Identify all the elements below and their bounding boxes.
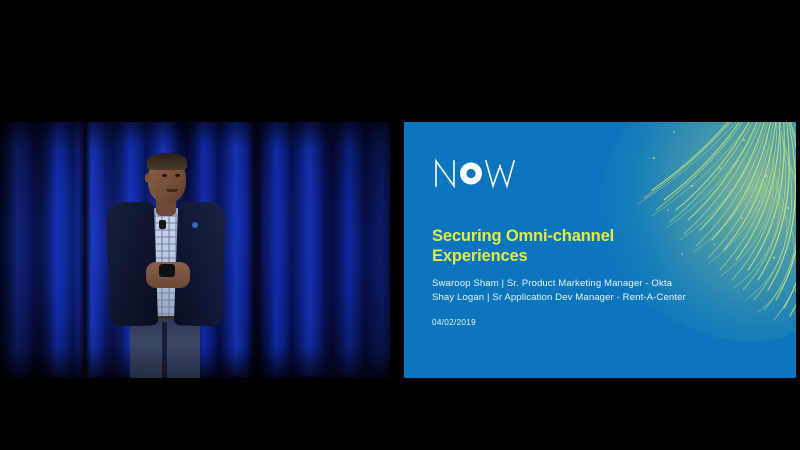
presentation-slide-panel[interactable]: Securing Omni-channel Experiences Swaroo… <box>404 122 796 378</box>
now-logo <box>432 155 516 191</box>
speaker-figure <box>96 152 246 378</box>
curtain-fold-shadow <box>78 122 92 378</box>
presenter-list: Swaroop Sham | Sr. Product Marketing Man… <box>432 277 732 304</box>
curtain-fold-shadow-secondary <box>248 122 264 378</box>
presenter-line-2: Shay Logan | Sr Application Dev Manager … <box>432 291 732 305</box>
speaker-eye-left <box>162 174 167 177</box>
speaker-mouth <box>166 189 178 192</box>
slide-title: Securing Omni-channel Experiences <box>432 226 732 266</box>
speaker-hair <box>147 153 187 170</box>
video-player-stage: Securing Omni-channel Experiences Swaroo… <box>0 0 800 450</box>
presenter-line-1: Swaroop Sham | Sr. Product Marketing Man… <box>432 277 732 291</box>
speaker-video-panel[interactable] <box>0 122 390 378</box>
speaker-ear <box>145 173 151 183</box>
slide-text-block: Securing Omni-channel Experiences Swaroo… <box>432 226 732 327</box>
presentation-clicker-icon <box>159 264 175 277</box>
speaker-eye-right <box>175 174 180 177</box>
slide-date: 04/02/2019 <box>432 318 732 327</box>
lapel-pin-icon <box>192 222 198 228</box>
lavalier-mic-icon <box>159 220 166 229</box>
